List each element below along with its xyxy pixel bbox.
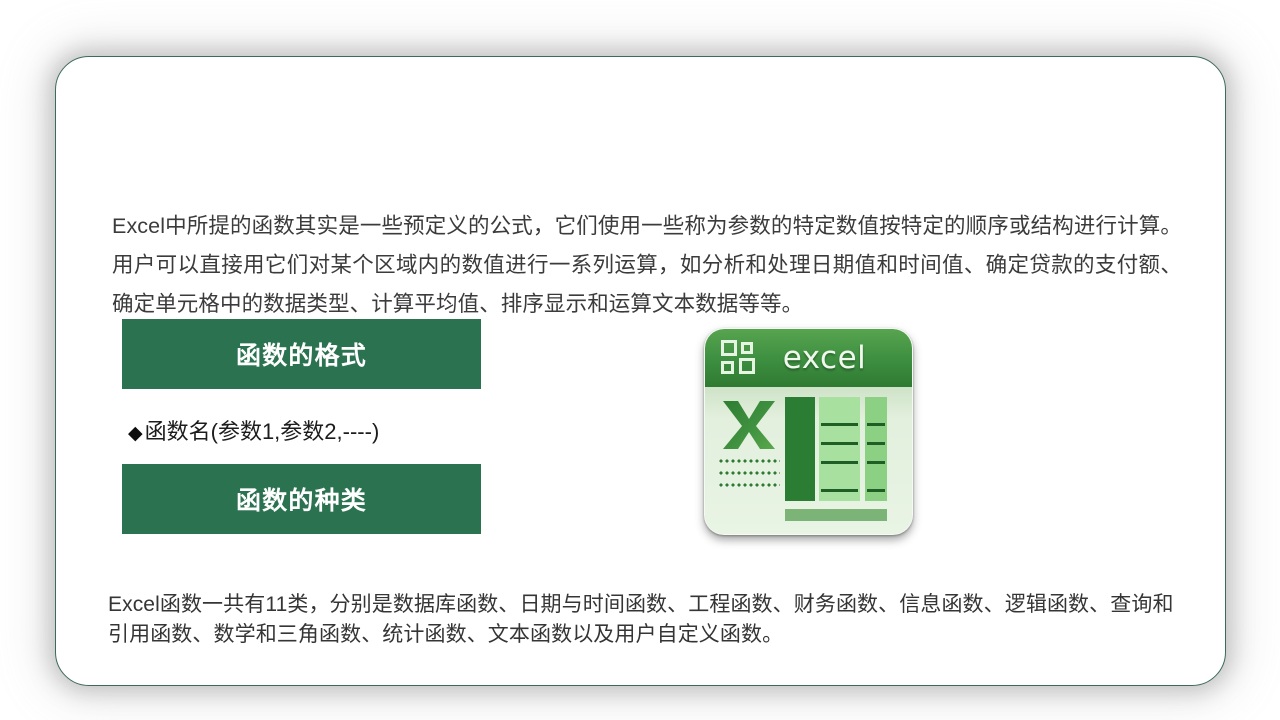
- office-squares-icon: [721, 340, 757, 376]
- spreadsheet-column-right: [865, 397, 887, 501]
- spreadsheet-rule: [867, 461, 885, 464]
- spreadsheet-rule: [821, 423, 858, 426]
- diamond-bullet-icon: ◆: [128, 423, 143, 444]
- spreadsheet-rule: [821, 489, 858, 492]
- excel-app-icon: excel: [704, 328, 913, 535]
- dotted-line-row: [718, 471, 780, 475]
- excel-x-letter-icon: [721, 399, 777, 451]
- spreadsheet-rule: [867, 442, 885, 445]
- slide-card: Excel中所提的函数其实是一些预定义的公式，它们使用一些称为参数的特定数值按特…: [55, 56, 1226, 686]
- spreadsheet-column-mid: [819, 397, 860, 501]
- spreadsheet-column-dark: [785, 397, 815, 501]
- excel-icon-header: excel: [705, 329, 912, 387]
- spreadsheet-rule: [867, 423, 885, 426]
- spreadsheet-footer-bar: [785, 509, 887, 521]
- dotted-line-row: [718, 459, 780, 463]
- excel-wordmark: excel: [757, 340, 898, 376]
- heading-bar-types-label: 函数的种类: [236, 481, 367, 517]
- slide-content-area: Excel中所提的函数其实是一些预定义的公式，它们使用一些称为参数的特定数值按特…: [56, 57, 1225, 685]
- spreadsheet-rule: [821, 461, 858, 464]
- spreadsheet-rule: [821, 442, 858, 445]
- dotted-line-row: [718, 483, 780, 487]
- bullet-line-text: 函数名(参数1,参数2,----): [145, 419, 380, 444]
- summary-paragraph: Excel函数一共有11类，分别是数据库函数、日期与时间函数、工程函数、财务函数…: [108, 590, 1183, 650]
- excel-icon-body: [705, 387, 912, 535]
- heading-bar-format-label: 函数的格式: [236, 336, 367, 372]
- heading-bar-function-format: 函数的格式: [122, 319, 481, 389]
- heading-bar-function-types: 函数的种类: [122, 464, 481, 534]
- intro-paragraph: Excel中所提的函数其实是一些预定义的公式，它们使用一些称为参数的特定数值按特…: [112, 207, 1182, 324]
- spreadsheet-rule: [867, 489, 885, 492]
- bullet-line-function-syntax: ◆函数名(参数1,参数2,----): [128, 415, 379, 451]
